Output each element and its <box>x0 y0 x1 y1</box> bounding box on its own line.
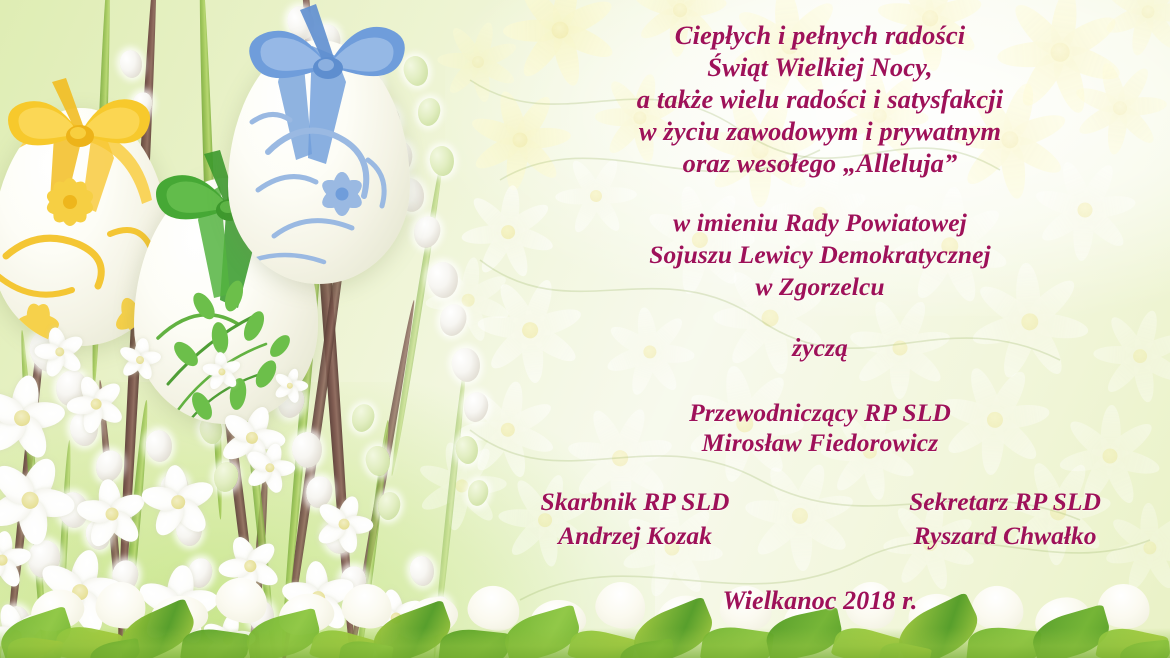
greeting-line-4: w życiu zawodowym i prywatnym <box>470 116 1170 147</box>
secretary-title: Sekretarz RP SLD <box>840 485 1170 519</box>
sender-line-3: w Zgorzelcu <box>470 272 1170 302</box>
signature-columns: Skarbnik RP SLD Andrzej Kozak Sekretarz … <box>470 485 1170 552</box>
treasurer-name: Andrzej Kozak <box>470 519 800 553</box>
sender-line-1: w imieniu Rady Powiatowej <box>470 208 1170 238</box>
secretary-name: Ryszard Chwałko <box>840 519 1170 553</box>
chair-name: Mirosław Fiedorowicz <box>470 428 1170 458</box>
yellow-egg-ribbon-bow <box>0 78 162 170</box>
bottom-white-petal <box>210 571 273 629</box>
greeting-text-block: Ciepłych i pełnych radości Świąt Wielkie… <box>470 0 1170 658</box>
sender-line-2: Sojuszu Lewicy Demokratycznej <box>470 240 1170 270</box>
white-blossom <box>200 350 244 394</box>
sender-verb: życzą <box>470 333 1170 363</box>
greeting-line-1: Ciepłych i pełnych radości <box>470 20 1170 51</box>
chair-title: Przewodniczący RP SLD <box>470 398 1170 428</box>
easter-greeting-card: Ciepłych i pełnych radości Świąt Wielkie… <box>0 0 1170 658</box>
greeting-line-2: Świąt Wielkiej Nocy, <box>470 52 1170 83</box>
treasurer-signature: Skarbnik RP SLD Andrzej Kozak <box>470 485 826 552</box>
greeting-line-5: oraz wesołego „Alleluja” <box>470 148 1170 179</box>
greeting-line-3: a także wielu radości i satysfakcji <box>470 84 1170 115</box>
treasurer-title: Skarbnik RP SLD <box>470 485 800 519</box>
white-blossom <box>115 335 166 386</box>
secretary-signature: Sekretarz RP SLD Ryszard Chwałko <box>826 485 1170 552</box>
blue-egg-ribbon-bow <box>238 4 414 104</box>
white-blossom <box>136 460 220 544</box>
footer-occasion: Wielkanoc 2018 r. <box>470 586 1170 616</box>
